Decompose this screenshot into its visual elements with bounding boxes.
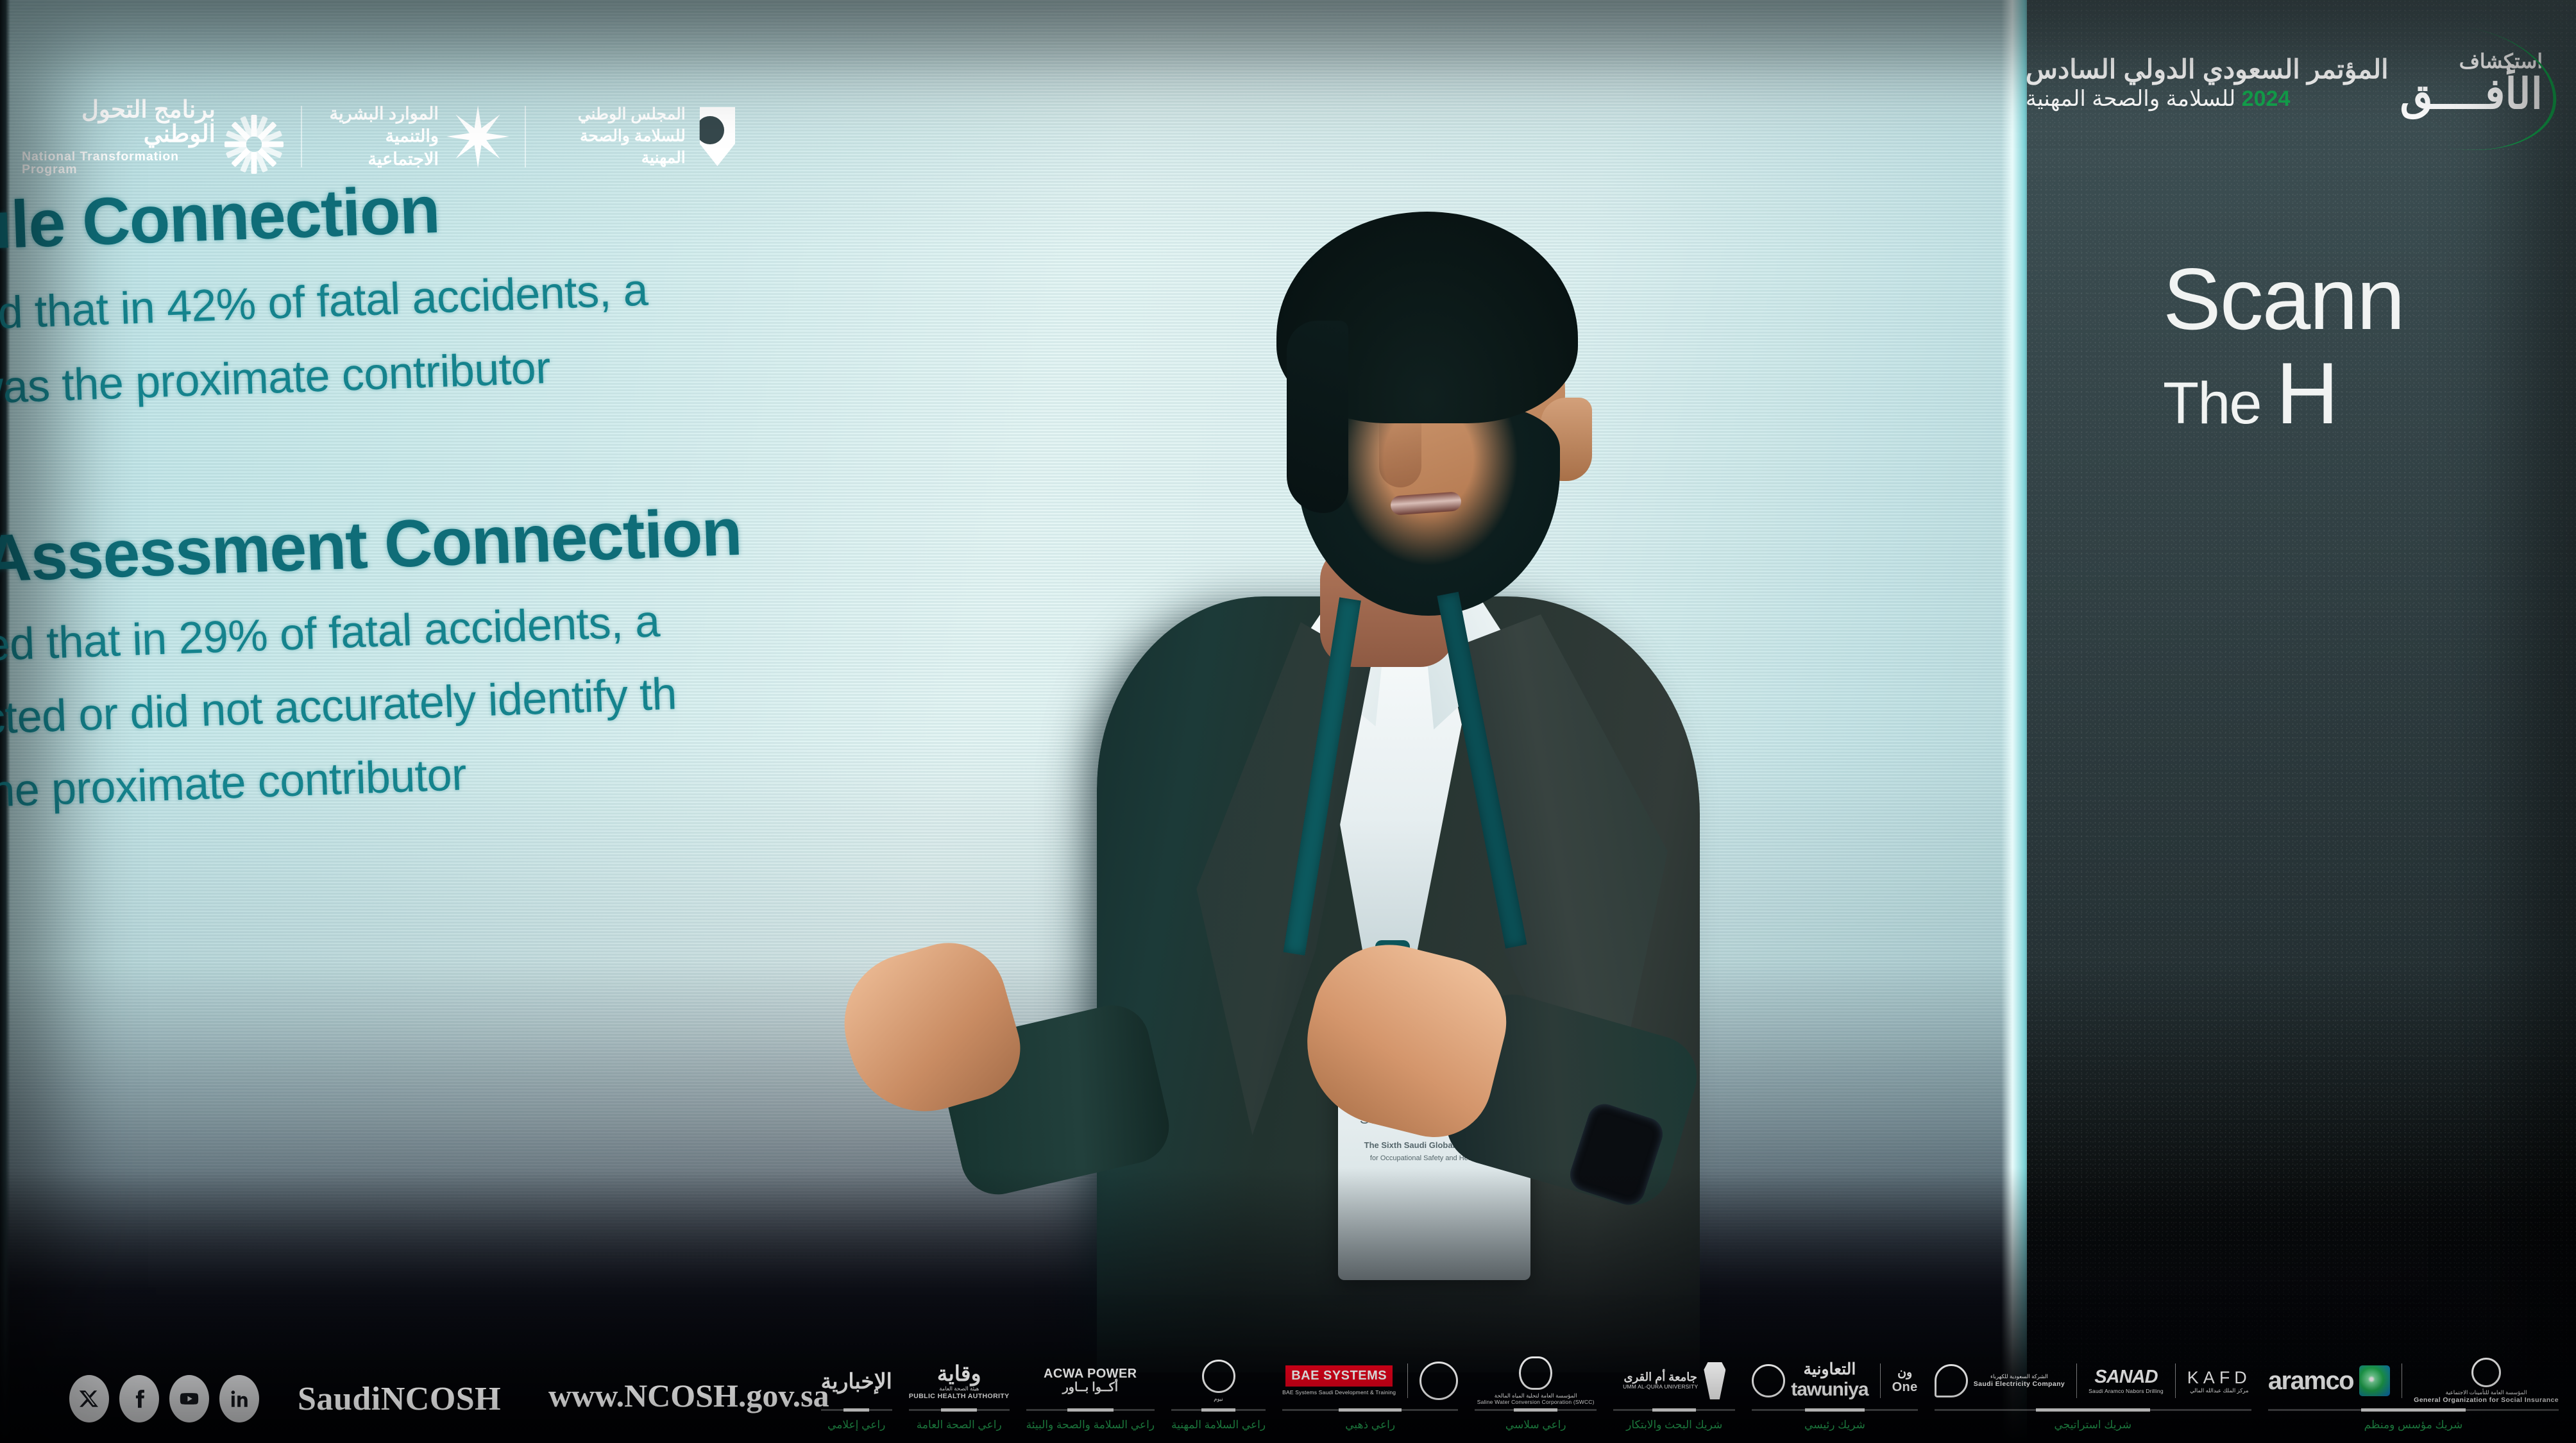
sponsor-name-ar: الإخبارية: [821, 1369, 892, 1394]
backdrop-title-the: The: [2163, 371, 2276, 436]
sponsor-label: شريك البحث والابتكار: [1626, 1419, 1722, 1431]
partner-seal-icon: [1419, 1362, 1458, 1400]
sponsor-name-ar: وقاية: [937, 1362, 981, 1386]
tawuniya-mark-icon: [1752, 1364, 1785, 1397]
sec-mark-icon: [1935, 1364, 1968, 1397]
sponsor-name-ar: المؤسسة العامة للتأمينات الاجتماعية: [2446, 1390, 2527, 1396]
backdrop-event-title: Scann The H: [2163, 257, 2404, 437]
social-links: SaudiNCOSH: [69, 1375, 501, 1422]
sponsor-name-en: Saline Water Conversion Corporation (SWC…: [1477, 1399, 1595, 1406]
conference-title-line2-text: للسلامة والصحة المهنية: [2026, 87, 2235, 111]
sponsor-label: شريك استراتيجي: [2054, 1419, 2131, 1431]
sponsor-rule: [1475, 1409, 1597, 1411]
facebook-icon[interactable]: [119, 1375, 159, 1422]
footer-bar: SaudiNCOSH www.NCOSH.gov.sa الإخبارية را…: [0, 1276, 2576, 1443]
sponsor-name-en: aramco: [2268, 1367, 2353, 1396]
sponsor-rule: [2268, 1409, 2559, 1411]
linkedin-icon[interactable]: [219, 1375, 259, 1422]
sponsor-name-en: UMM AL-QURA UNIVERSITY: [1623, 1384, 1698, 1390]
sponsor-name-ar-sub: هيئة الصحة العامة: [939, 1386, 979, 1392]
logo-ministry-hrsd: الموارد البشرية والتنمية الاجتماعية: [302, 103, 525, 170]
sponsor-name-en2: One: [1892, 1380, 1918, 1395]
conference-title-line2: 2024 للسلامة والصحة المهنية: [2026, 88, 2290, 111]
gosi-mark-icon: [2471, 1358, 2501, 1387]
ntp-arabic-label: برنامج التحول الوطني: [22, 97, 216, 147]
backdrop-title-line1: Scann: [2163, 257, 2404, 342]
sponsor-rule: [1613, 1409, 1735, 1411]
sponsor-name-en: Saudi Electricity Company: [1974, 1380, 2065, 1388]
hrsd-star-icon: [453, 105, 503, 168]
hrsd-arabic-line2: والتنمية الاجتماعية: [324, 125, 439, 170]
sponsor-label: شريك رئيسي: [1804, 1419, 1865, 1431]
sponsor-strip: الإخبارية راعي إعلامي وقاية هيئة الصحة ا…: [813, 1360, 2567, 1431]
ncosh-shield-icon: [700, 107, 735, 166]
saudi-emblem-icon: [230, 106, 279, 167]
umq-emblem-icon: [1704, 1362, 1725, 1399]
speaker-person: Scanning the Horizon The Sixth Saudi Glo…: [930, 212, 1841, 1353]
sponsor-name-ar: نيوم: [1214, 1396, 1223, 1403]
sponsor-public-health-authority: وقاية هيئة الصحة العامة PUBLIC HEALTH AU…: [901, 1360, 1018, 1431]
conference-wordmark: استكشاف الأفــــق: [2400, 51, 2555, 115]
speaker-sideburn: [1287, 321, 1348, 513]
sponsor-name-ar: الشركة السعودية للكهرباء: [1990, 1374, 2048, 1380]
sponsor-sec-sanad-kafd: الشركة السعودية للكهرباء Saudi Electrici…: [1926, 1360, 2260, 1431]
sponsor-name-en: tawuniya: [1791, 1379, 1868, 1401]
sponsor-aramco-gosi: aramco المؤسسة العامة للتأمينات الاجتماع…: [2260, 1360, 2567, 1431]
social-handle[interactable]: SaudiNCOSH: [298, 1380, 501, 1418]
backdrop-title-h: H: [2276, 344, 2337, 442]
sponsor-rule: [1026, 1409, 1155, 1411]
sponsor-bae-systems: BAE SYSTEMS BAE Systems Saudi Developmen…: [1274, 1360, 1466, 1431]
sponsor-rule: [1171, 1409, 1266, 1411]
aramco-mark-icon: [2359, 1365, 2390, 1396]
sponsor-name-ar3: مركز الملك عبدالله المالي: [2190, 1388, 2248, 1394]
sponsor-label: راعي السلامة المهنية: [1171, 1419, 1266, 1431]
sponsor-rule: [821, 1409, 892, 1411]
sponsor-name-ar: التعاونية: [1804, 1361, 1856, 1379]
sponsor-name-en3: Saudi Aramco Nabors Drilling: [2089, 1388, 2164, 1395]
website-url[interactable]: www.NCOSH.gov.sa: [548, 1377, 829, 1414]
sponsor-al-ekhbariya: الإخبارية راعي إعلامي: [813, 1360, 901, 1431]
logo-national-transformation-program: برنامج التحول الوطني National Transforma…: [0, 97, 301, 176]
presentation-photo-frame: برنامج التحول الوطني National Transforma…: [0, 0, 2576, 1443]
sponsor-name-en-sub: BAE Systems Saudi Development & Training: [1282, 1390, 1396, 1396]
sponsor-name-ar: جامعة أم القرى: [1624, 1371, 1697, 1384]
sponsor-name-en: ACWA POWER: [1044, 1367, 1137, 1381]
sponsor-umm-al-qura-university: جامعة أم القرى UMM AL-QURA UNIVERSITY شر…: [1605, 1360, 1743, 1431]
sponsor-label: راعي ذهبي: [1345, 1419, 1395, 1431]
sponsor-swcc: المؤسسة العامة لتحلية المياه المالحة Sal…: [1466, 1360, 1605, 1431]
sponsor-neom: نيوم راعي السلامة المهنية: [1163, 1360, 1274, 1431]
backdrop-wall: [2027, 0, 2576, 1443]
swcc-mark-icon: [1519, 1356, 1552, 1390]
conference-title-line1: المؤتمر السعودي الدولي السادس: [2026, 56, 2389, 83]
sponsor-name-ar: أكــوا بــاور: [1063, 1381, 1118, 1395]
sponsor-name-en: PUBLIC HEALTH AUTHORITY: [909, 1392, 1010, 1400]
conference-logo: المؤتمر السعودي الدولي السادس 2024 للسلا…: [2026, 51, 2554, 115]
neom-mark-icon: [1202, 1360, 1235, 1393]
hrsd-arabic-line1: الموارد البشرية: [324, 103, 439, 125]
x-icon[interactable]: [69, 1375, 109, 1422]
sponsor-name-en2: General Organization for Social Insuranc…: [2414, 1396, 2559, 1404]
sponsor-label: راعي السلامة والصحة والبيئة: [1026, 1419, 1155, 1431]
ncosh-arabic-line2: للسلامة والصحة المهنية: [548, 126, 686, 169]
sponsor-rule: [909, 1409, 1010, 1411]
sponsor-label: راعي إعلامي: [827, 1419, 885, 1431]
sponsor-tawuniya-one: التعاونية tawuniya ون One شريك رئيسي: [1743, 1360, 1926, 1431]
sponsor-name-en: BAE SYSTEMS: [1285, 1365, 1393, 1387]
ntp-english-label: National Transformation Program: [22, 150, 216, 176]
backdrop-title-line2: The H: [2163, 351, 2404, 436]
youtube-icon[interactable]: [169, 1375, 209, 1422]
sponsor-label: راعي سلاسي: [1505, 1419, 1566, 1431]
sponsor-rule: [1752, 1409, 1917, 1411]
wall-texture: [2027, 0, 2576, 1443]
sponsor-label: شريك مؤسس ومنظم: [2364, 1419, 2463, 1431]
sponsor-name-en4: KAFD: [2187, 1368, 2251, 1388]
ncosh-arabic-line1: المجلس الوطني: [548, 104, 686, 126]
sponsor-rule: [1935, 1409, 2251, 1411]
sponsor-name-en2: SANAD: [2094, 1367, 2157, 1388]
conference-year: 2024: [2242, 87, 2291, 111]
sponsor-name-ar2: ون: [1897, 1367, 1912, 1380]
logo-ncosh: المجلس الوطني للسلامة والصحة المهنية: [526, 104, 757, 169]
sponsor-rule: [1282, 1409, 1458, 1411]
sponsor-label: راعي الصحة العامة: [917, 1419, 1002, 1431]
sponsor-acwa-power: ACWA POWER أكــوا بــاور راعي السلامة وا…: [1018, 1360, 1163, 1431]
